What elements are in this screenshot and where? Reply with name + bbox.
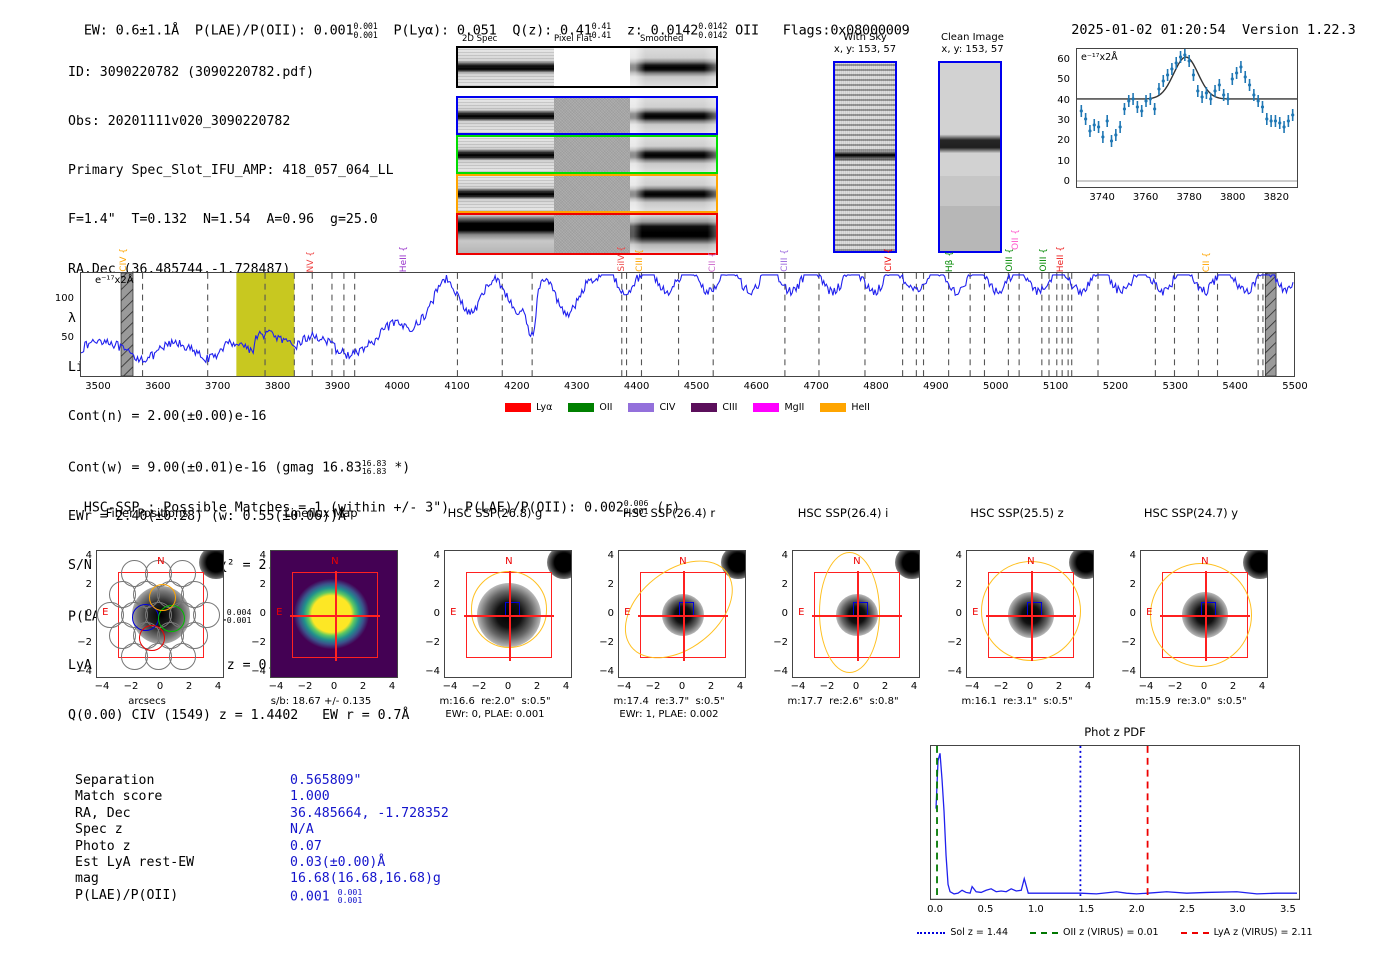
emission-line-label: Hβ {: [946, 251, 955, 272]
cutout-y-tick: −2: [416, 637, 440, 648]
emission-line-trace: [835, 151, 895, 160]
crosshair-vertical: [1031, 571, 1033, 661]
cutout-y-tick: 2: [1112, 579, 1136, 590]
cutout-footer-1: m:16.6 re:2.0" s:0.5": [402, 696, 588, 709]
cutout-y-tick: 2: [242, 579, 266, 590]
cutout-title: HSC SSP(26.4) i: [764, 506, 922, 520]
match-table-value: 16.68(16.68,16.68)g: [290, 871, 441, 887]
clean-image-title: Clean Image: [925, 32, 1020, 44]
cutout-y-tick: −4: [242, 666, 266, 677]
phot-z-x-tick: 0.5: [969, 904, 1001, 915]
legend-item: MgII: [753, 402, 804, 413]
legend-label: MgII: [784, 402, 804, 413]
phot-z-axes: [930, 745, 1300, 900]
line-profile-plot: [1077, 49, 1297, 187]
cutout-x-tick: 4: [554, 681, 578, 692]
cutout-y-tick: 0: [242, 608, 266, 619]
x-tick-label: 5300: [1155, 381, 1195, 392]
emission-line-label: HeII {: [1057, 246, 1066, 272]
cutout-footer-2: EWr: 0, PLAE: 0.001: [402, 709, 588, 722]
y-tick-label: 0: [1046, 176, 1070, 187]
match-table-value: 1.000: [290, 789, 330, 805]
col-title-pixelflat: Pixel Flat: [554, 34, 592, 44]
cutout-x-tick: 2: [525, 681, 549, 692]
strip-cell-pixelflat: [554, 176, 630, 211]
crosshair-vertical: [857, 571, 859, 661]
cutout-x-tick: −4: [612, 681, 636, 692]
strip-cell-pixelflat: [554, 98, 630, 133]
cutout-image[interactable]: NE: [618, 550, 746, 678]
emission-line-label: OIII {: [1006, 248, 1015, 272]
phot-z-x-tick: 1.5: [1070, 904, 1102, 915]
cutout-y-tick: 4: [68, 550, 92, 561]
spectrum-legend: LyαOIICIVCIIIMgIIHeII: [80, 402, 1295, 413]
cutout-footer-1: m:17.7 re:2.6" s:0.8": [750, 696, 936, 709]
x-tick-label: 3820: [1260, 192, 1292, 203]
x-tick-label: 5000: [976, 381, 1016, 392]
cutout-title: Fiber Positions: [68, 506, 226, 520]
cutout-title: HSC SSP(25.5) z: [938, 506, 1096, 520]
cutout-x-tick: 2: [1221, 681, 1245, 692]
cutout-image[interactable]: NE: [270, 550, 398, 678]
cutout-x-tick: −2: [989, 681, 1013, 692]
cutout-image[interactable]: NE: [444, 550, 572, 678]
source-ellipse: [819, 552, 880, 674]
detection-box: [853, 602, 868, 615]
match-table-key: Spec z: [75, 822, 123, 838]
cutout-x-tick: −2: [641, 681, 665, 692]
cutout-x-tick: 2: [873, 681, 897, 692]
crosshair-horizontal: [293, 615, 377, 617]
emission-line-label: NV {: [307, 251, 316, 272]
cutout-image[interactable]: NE: [966, 550, 1094, 678]
y-tick-label: 20: [1046, 135, 1070, 146]
info-id: ID: 3090220782 (3090220782.pdf): [68, 65, 410, 81]
phot-z-x-tick: 0.0: [919, 904, 951, 915]
strip-cell-smoothed: [630, 137, 716, 172]
x-tick-label: 5100: [1036, 381, 1076, 392]
phot-z-legend: Sol z = 1.44OII z (VIRUS) = 0.01LyA z (V…: [900, 927, 1330, 938]
match-table-key: RA, Dec: [75, 806, 131, 822]
cutout-x-tick: 2: [699, 681, 723, 692]
match-plae-errors: 0.0010.001: [338, 888, 363, 905]
detection-box: [1201, 602, 1216, 615]
legend-label: CIII: [722, 402, 737, 413]
compass-east: E: [102, 607, 108, 618]
cutout-footer-1: s/b: 18.67 +/- 0.135: [228, 696, 414, 709]
legend-label: OII: [599, 402, 612, 413]
compass-east: E: [450, 607, 456, 618]
cutout-x-tick: 2: [351, 681, 375, 692]
cutout-x-tick: 0: [322, 681, 346, 692]
y-tick-label: 50: [1046, 74, 1070, 85]
cutout-y-tick: 4: [242, 550, 266, 561]
legend-item: OII: [568, 402, 612, 413]
spec-strip-blue: 0.31 2.12 220 0.69" (153, 57) 20201111 v…: [456, 96, 718, 135]
detection-box: [679, 602, 694, 615]
spec-strip-orange: 0.14 1.82 220 1.28" (153, 57) 20201111 v…: [456, 174, 718, 213]
spectrum-axes: e⁻¹⁷x2Å: [80, 272, 1295, 377]
spec-strip-green: 0.30 0.98 220 0.72" (153, 57) 20201111 v…: [456, 135, 718, 174]
phot-z-legend-item: OII z (VIRUS) = 0.01: [1030, 927, 1159, 938]
phot-z-x-tick: 3.5: [1272, 904, 1304, 915]
cutout-x-tick: 4: [1076, 681, 1100, 692]
cutout-footer-1: m:16.1 re:3.1" s:0.5": [924, 696, 1110, 709]
fiber-circle: [169, 643, 196, 670]
match-table-key: mag: [75, 871, 99, 887]
emission-line-label: CIV {: [120, 248, 129, 272]
legend-line-sample: [917, 932, 945, 934]
crosshair-vertical: [1205, 571, 1207, 661]
x-tick-label: 3760: [1130, 192, 1162, 203]
match-table-value: 0.07: [290, 839, 322, 855]
legend-item: CIV: [628, 402, 675, 413]
legend-label: LyA z (VIRUS) = 2.11: [1214, 927, 1313, 938]
cutout-panel-4[interactable]: HSC SSP(26.4) iNE−4−4−2−2002244m:17.7 re…: [764, 528, 922, 708]
flux-unit-annotation: e⁻¹⁷x2Å: [1081, 52, 1118, 63]
emission-line-label: HeII {: [400, 246, 409, 272]
legend-swatch: [628, 403, 654, 412]
y-tick-label: 100: [46, 293, 74, 304]
compass-east: E: [276, 607, 282, 618]
phot-z-legend-item: LyA z (VIRUS) = 2.11: [1181, 927, 1313, 938]
emission-line-label: SiIV {: [618, 246, 627, 272]
x-tick-label: 4700: [796, 381, 836, 392]
x-tick-label: 3500: [78, 381, 118, 392]
strip-cell-smoothed: [630, 48, 716, 86]
line-profile-axes: e⁻¹⁷x2Å: [1076, 48, 1298, 188]
strip-cell-2dspec: [458, 176, 554, 211]
x-tick-label: 5200: [1095, 381, 1135, 392]
match-table-key: P(LAE)/P(OII): [75, 888, 178, 904]
cutout-x-tick: −4: [786, 681, 810, 692]
emission-line-label: CIII {: [636, 249, 645, 272]
with-sky-subtitle: x, y: 153, 57: [820, 44, 910, 56]
cutout-y-tick: −4: [416, 666, 440, 677]
cutout-y-tick: −2: [1112, 637, 1136, 648]
col-title-2dspec: 2D Spec: [462, 34, 497, 44]
cutout-x-tick: 0: [148, 681, 172, 692]
line-profile-chart: e⁻¹⁷x2Å 0102030405060 374037603780380038…: [1040, 48, 1298, 210]
cutout-x-tick: 0: [1018, 681, 1042, 692]
info-primary-slot: Primary Spec_Slot_IFU_AMP: 418_057_064_L…: [68, 163, 410, 179]
compass-north: N: [1027, 556, 1034, 567]
crosshair-vertical: [683, 571, 685, 661]
compass-east: E: [798, 607, 804, 618]
x-tick-label: 4900: [916, 381, 956, 392]
cutout-panel-2[interactable]: HSC SSP(26.8) gNE−4−4−2−2002244m:16.6 re…: [416, 528, 574, 708]
cutout-x-tick: −4: [438, 681, 462, 692]
phot-z-x-tick: 1.0: [1020, 904, 1052, 915]
compass-north: N: [1201, 556, 1208, 567]
strip-cell-2dspec: [458, 137, 554, 172]
strip-cell-smoothed: [630, 98, 716, 133]
x-tick-label: 3800: [258, 381, 298, 392]
y-tick-label: 50: [46, 332, 74, 343]
cutout-x-tick: 0: [844, 681, 868, 692]
x-tick-label: 4100: [437, 381, 477, 392]
cutout-title: HSC SSP(26.4) r: [590, 506, 748, 520]
phot-z-legend-item: Sol z = 1.44: [917, 927, 1008, 938]
legend-label: OII z (VIRUS) = 0.01: [1063, 927, 1159, 938]
spectrum-unit-annotation: e⁻¹⁷x2Å: [95, 275, 134, 286]
x-tick-label: 3900: [317, 381, 357, 392]
cutout-x-tick: 0: [496, 681, 520, 692]
cutout-x-tick: −4: [960, 681, 984, 692]
cutout-x-tick: −2: [119, 681, 143, 692]
legend-swatch: [505, 403, 531, 412]
cutout-image[interactable]: NE: [1140, 550, 1268, 678]
x-tick-label: 4400: [617, 381, 657, 392]
legend-swatch: [753, 403, 779, 412]
cutout-y-tick: 2: [590, 579, 614, 590]
cutout-footer-1: m:17.4 re:3.7" s:0.5": [576, 696, 762, 709]
cutout-x-tick: 0: [1192, 681, 1216, 692]
legend-item: HeII: [820, 402, 870, 413]
x-tick-label: 4300: [557, 381, 597, 392]
legend-item: CIII: [691, 402, 737, 413]
compass-north: N: [157, 556, 164, 567]
compass-north: N: [505, 556, 512, 567]
cutout-footer-2: EWr: 1, PLAE: 0.002: [576, 709, 762, 722]
strip-cell-pixelflat: [554, 48, 630, 86]
cutout-panel-6[interactable]: HSC SSP(24.7) yNE−4−4−2−2002244m:15.9 re…: [1112, 528, 1270, 708]
strip-cell-pixelflat: [554, 137, 630, 172]
emission-line-label: OII {: [1012, 229, 1021, 250]
phot-z-x-tick: 2.5: [1171, 904, 1203, 915]
y-tick-label: 30: [1046, 115, 1070, 126]
info-q-civ: Q(0.00) CIV (1549) z = 1.4402 EW r = 0.7…: [68, 708, 410, 724]
version: Version 1.22.3: [1242, 22, 1356, 38]
legend-line-sample: [1030, 932, 1058, 934]
phot-z-x-tick: 2.0: [1121, 904, 1153, 915]
legend-item: Lyα: [505, 402, 552, 413]
col-title-smoothed: Smoothed: [640, 34, 683, 44]
spectrum-line-labels: CIV {NV {HeII {SiIV {CIII {CII {CIII {CI…: [80, 212, 1295, 272]
match-table-value: 0.565809": [290, 773, 361, 789]
compass-north: N: [679, 556, 686, 567]
x-tick-label: 4600: [736, 381, 776, 392]
y-tick-label: 60: [1046, 54, 1070, 65]
cutout-y-tick: −4: [764, 666, 788, 677]
strip-cell-2dspec: [458, 48, 554, 86]
x-tick-label: 3740: [1086, 192, 1118, 203]
cutout-y-tick: 4: [1112, 550, 1136, 561]
emission-line-label: CII {: [709, 252, 718, 272]
legend-label: Lyα: [536, 402, 552, 413]
spectrum-plot: [81, 273, 1294, 376]
match-table-key: Match score: [75, 789, 162, 805]
cutout-x-tick: 0: [670, 681, 694, 692]
emission-line-label: CIV {: [885, 248, 894, 272]
strip-cell-smoothed: [630, 176, 716, 211]
x-tick-label: 4500: [676, 381, 716, 392]
legend-swatch: [820, 403, 846, 412]
emission-line-label: OIII {: [1040, 248, 1049, 272]
cutout-title: HSC SSP(26.8) g: [416, 506, 574, 520]
cutout-x-tick: 2: [1047, 681, 1071, 692]
y-tick-label: 40: [1046, 95, 1070, 106]
cutout-x-tick: −2: [1163, 681, 1187, 692]
cutout-y-tick: 0: [68, 608, 92, 619]
info-cont-w: Cont(w) = 9.00(±0.01)e-16 (gmag 16.8316.…: [68, 459, 410, 477]
info-gmag-errors: 16.8316.83: [362, 459, 387, 476]
x-tick-label: 5400: [1215, 381, 1255, 392]
cutout-y-tick: 0: [416, 608, 440, 619]
cutout-y-tick: 2: [938, 579, 962, 590]
cutout-panel-1[interactable]: Lineflux MapNE−4−4−2−2002244s/b: 18.67 +…: [242, 528, 400, 708]
timestamp-version: 2025-01-02 01:20:54 Version 1.22.3: [1055, 6, 1356, 38]
legend-label: Sol z = 1.44: [950, 927, 1008, 938]
cutout-y-tick: 2: [764, 579, 788, 590]
weighted-sum-strip: Weighted Sum: [456, 46, 718, 88]
cutout-footer-1: arcsecs: [54, 696, 240, 709]
cutout-y-tick: −4: [938, 666, 962, 677]
cutout-image[interactable]: NE: [96, 550, 224, 678]
full-spectrum-chart: CIV {NV {HeII {SiIV {CIII {CII {CIII {CI…: [80, 272, 1295, 447]
clean-image-subtitle: x, y: 153, 57: [925, 44, 1020, 56]
legend-label: CIV: [659, 402, 675, 413]
cutout-footer-1: m:15.9 re:3.0" s:0.5": [1098, 696, 1284, 709]
detection-box: [1027, 602, 1042, 615]
crosshair-vertical: [509, 571, 511, 661]
match-table-value: 36.485664, -1.728352: [290, 806, 449, 822]
cutout-y-tick: 4: [590, 550, 614, 561]
compass-north: N: [853, 556, 860, 567]
cutout-y-tick: 0: [938, 608, 962, 619]
match-table-value: 0.001 0.0010.001: [290, 888, 362, 906]
x-tick-label: 3780: [1173, 192, 1205, 203]
legend-line-sample: [1181, 932, 1209, 934]
x-tick-label: 3600: [138, 381, 178, 392]
cutout-x-tick: 4: [206, 681, 230, 692]
match-table-value: 0.03(±0.00)Å: [290, 855, 385, 871]
emission-line-label: CIII {: [781, 249, 790, 272]
cutout-y-tick: 0: [764, 608, 788, 619]
cutout-x-tick: 4: [902, 681, 926, 692]
match-table-value: N/A: [290, 822, 314, 838]
cutout-panel-3[interactable]: HSC SSP(26.4) rNE−4−4−2−2002244m:17.4 re…: [590, 528, 748, 708]
phot-z-pdf-title: Phot z PDF: [930, 725, 1300, 739]
timestamp: 2025-01-02 01:20:54: [1071, 22, 1225, 38]
cutout-y-tick: −2: [242, 637, 266, 648]
x-tick-label: 4800: [856, 381, 896, 392]
match-table-key: Est LyA rest-EW: [75, 855, 194, 871]
x-tick-label: 4200: [497, 381, 537, 392]
x-tick-label: 5500: [1275, 381, 1315, 392]
cutout-y-tick: 0: [590, 608, 614, 619]
cutout-y-tick: −4: [590, 666, 614, 677]
cutout-image[interactable]: NE: [792, 550, 920, 678]
cutout-x-tick: −2: [467, 681, 491, 692]
cutout-y-tick: −4: [68, 666, 92, 677]
with-sky-title: With Sky: [820, 32, 910, 44]
cutout-title: Lineflux Map: [242, 506, 400, 520]
cutout-y-tick: −2: [68, 637, 92, 648]
cutout-x-tick: 4: [728, 681, 752, 692]
cutout-y-tick: 4: [938, 550, 962, 561]
cutout-x-tick: −2: [293, 681, 317, 692]
cutout-y-tick: 2: [416, 579, 440, 590]
cutout-x-tick: 4: [1250, 681, 1274, 692]
cutout-y-tick: 2: [68, 579, 92, 590]
compass-east: E: [624, 607, 630, 618]
phot-z-pdf-chart: Phot z PDF 0.00.51.01.52.02.53.03.5 Sol …: [930, 745, 1300, 910]
x-tick-label: 4000: [377, 381, 417, 392]
cutout-y-tick: −4: [1112, 666, 1136, 677]
cutout-x-tick: −4: [1134, 681, 1158, 692]
cutout-x-tick: −4: [264, 681, 288, 692]
match-table-key: Separation: [75, 773, 154, 789]
cutout-x-tick: 2: [177, 681, 201, 692]
compass-east: E: [1146, 607, 1152, 618]
cutout-x-tick: −2: [815, 681, 839, 692]
x-tick-label: 3800: [1217, 192, 1249, 203]
cutout-y-tick: 0: [1112, 608, 1136, 619]
fiber-circle-highlight-2: [149, 584, 176, 611]
cutout-y-tick: 4: [416, 550, 440, 561]
cutout-y-tick: −2: [938, 637, 962, 648]
cutout-x-tick: 4: [380, 681, 404, 692]
y-tick-label: 10: [1046, 156, 1070, 167]
phot-z-x-tick: 3.0: [1221, 904, 1253, 915]
cutout-title: HSC SSP(24.7) y: [1112, 506, 1270, 520]
emission-line-label: CII {: [1203, 252, 1212, 272]
phot-z-plot: [931, 746, 1299, 899]
cutout-y-tick: −2: [764, 637, 788, 648]
compass-east: E: [972, 607, 978, 618]
legend-swatch: [568, 403, 594, 412]
match-table-key: Photo z: [75, 839, 131, 855]
cutout-y-tick: −2: [590, 637, 614, 648]
x-tick-label: 3700: [198, 381, 238, 392]
compass-north: N: [331, 556, 338, 567]
cutout-x-tick: −4: [90, 681, 114, 692]
cutout-panel-0[interactable]: Fiber PositionsNE−4−4−2−2002244arcsecs: [68, 528, 226, 708]
legend-label: HeII: [851, 402, 870, 413]
cutout-panel-5[interactable]: HSC SSP(25.5) zNE−4−4−2−2002244m:16.1 re…: [938, 528, 1096, 708]
detection-box: [505, 602, 520, 615]
legend-swatch: [691, 403, 717, 412]
strip-cell-2dspec: [458, 98, 554, 133]
info-obs: Obs: 20201111v020_3090220782: [68, 114, 410, 130]
cutout-y-tick: 4: [764, 550, 788, 561]
